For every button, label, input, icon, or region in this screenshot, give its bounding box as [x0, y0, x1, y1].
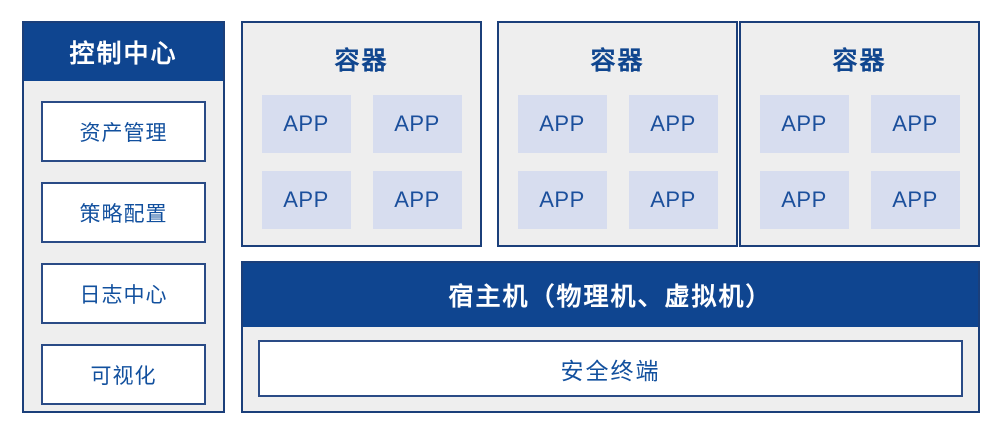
host-machine-title: 宿主机（物理机、虚拟机） — [243, 263, 978, 327]
app-box[interactable]: APP — [871, 171, 960, 229]
app-box[interactable]: APP — [262, 95, 351, 153]
app-box[interactable]: APP — [373, 171, 462, 229]
host-machine-body: 安全终端 — [243, 327, 978, 412]
app-box[interactable]: APP — [760, 95, 849, 153]
app-box[interactable]: APP — [629, 95, 718, 153]
control-item-asset-management[interactable]: 资产管理 — [41, 101, 206, 162]
host-machine-panel: 宿主机（物理机、虚拟机） 安全终端 — [241, 261, 980, 413]
control-center-panel: 控制中心 资产管理 策略配置 日志中心 可视化 — [22, 21, 225, 413]
container-title: 容器 — [499, 41, 736, 77]
app-box[interactable]: APP — [518, 95, 607, 153]
app-grid: APP APP APP APP — [262, 95, 462, 229]
app-box[interactable]: APP — [871, 95, 960, 153]
app-box[interactable]: APP — [629, 171, 718, 229]
control-item-log-center[interactable]: 日志中心 — [41, 263, 206, 324]
control-center-item-list: 资产管理 策略配置 日志中心 可视化 — [24, 81, 223, 419]
app-box[interactable]: APP — [262, 171, 351, 229]
app-box[interactable]: APP — [373, 95, 462, 153]
container-title: 容器 — [741, 41, 978, 77]
control-item-visualization[interactable]: 可视化 — [41, 344, 206, 405]
control-item-policy-configuration[interactable]: 策略配置 — [41, 182, 206, 243]
app-box[interactable]: APP — [760, 171, 849, 229]
container-panel: 容器 APP APP APP APP — [497, 21, 738, 247]
app-grid: APP APP APP APP — [518, 95, 718, 229]
container-panel: 容器 APP APP APP APP — [241, 21, 482, 247]
architecture-diagram: 控制中心 资产管理 策略配置 日志中心 可视化 容器 APP APP APP A… — [0, 0, 1001, 437]
app-box[interactable]: APP — [518, 171, 607, 229]
security-terminal-box[interactable]: 安全终端 — [258, 340, 963, 397]
container-panel: 容器 APP APP APP APP — [739, 21, 980, 247]
container-title: 容器 — [243, 41, 480, 77]
control-center-title: 控制中心 — [24, 23, 223, 81]
app-grid: APP APP APP APP — [760, 95, 960, 229]
